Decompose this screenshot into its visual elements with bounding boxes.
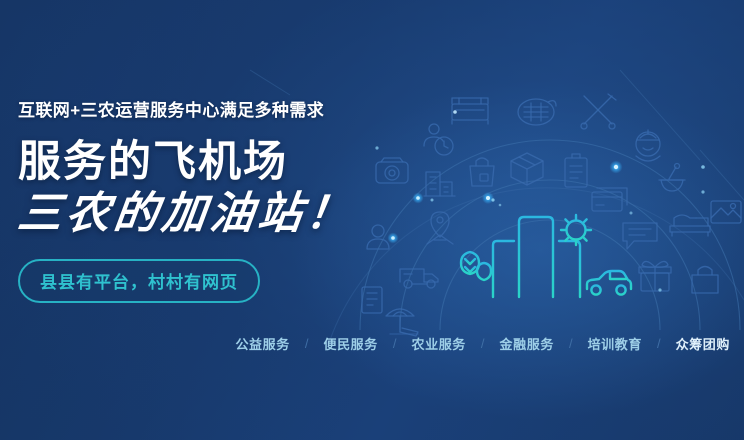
nav-item-1[interactable]: 公益服务 [235,334,289,353]
crossed-tools-icon [581,94,616,129]
right-building [559,241,580,297]
landscape-icon [711,201,741,223]
abacus-icon [518,99,556,125]
center-tower [519,203,553,297]
city-skyline [461,203,642,297]
mortar-pestle-icon [659,164,685,192]
location-pin-person-icon [427,212,453,244]
nav-separator: / [305,336,309,351]
nav-item-3[interactable]: 农业服务 [412,334,466,353]
nav-item-5[interactable]: 培训教育 [588,334,642,353]
hero-subtitle: 互联网+三农运营服务中心满足多种需求 [18,100,378,123]
bed-icon [452,98,488,124]
car-icon [587,271,631,295]
tree-icon-right [477,263,491,297]
gift-box-icon [639,261,671,291]
glow-dots [375,110,704,291]
left-building [493,241,514,297]
sofa-icon [670,215,710,236]
hero-copy: 互联网+三农运营服务中心满足多种需求 服务的飞机场 三农的加油站！ 县县有平台，… [18,100,378,303]
person-clock-icon [424,124,453,155]
beach-umbrella-icon [386,309,418,336]
nav-item-4[interactable]: 金融服务 [500,334,554,353]
delivery-van-icon [400,269,438,288]
hero-headline-script: 三农的加油站！ [15,189,381,238]
camera-lens-icon [376,158,408,183]
nav-separator: / [393,336,397,351]
shopping-bag-icon [470,158,494,186]
clipboard-icon [565,154,587,187]
tree-icon-left [461,252,479,297]
credit-cards-icon [592,188,627,211]
hero-banner: 互联网+三农运营服务中心满足多种需求 服务的飞机场 三农的加油站！ 县县有平台，… [0,0,744,440]
police-officer-icon [636,130,660,161]
package-box-icon [511,153,543,185]
service-nav: 公益服务/便民服务/农业服务/金融服务/培训教育/众筹团购 [0,334,744,353]
nav-item-2[interactable]: 便民服务 [323,334,377,353]
office-building-icon [424,172,455,196]
nav-separator: / [481,336,485,351]
nav-separator: / [657,336,661,351]
nav-item-6[interactable]: 众筹团购 [676,334,730,353]
speech-bubble-icon [623,223,657,249]
tagline-pill[interactable]: 县县有平台，村村有网页 [18,259,260,303]
arc-rings [330,140,744,340]
sun-gear-icon [561,215,591,245]
handbag-icon [692,267,718,294]
hero-headline: 服务的飞机场 [18,139,378,185]
nav-separator: / [569,336,573,351]
